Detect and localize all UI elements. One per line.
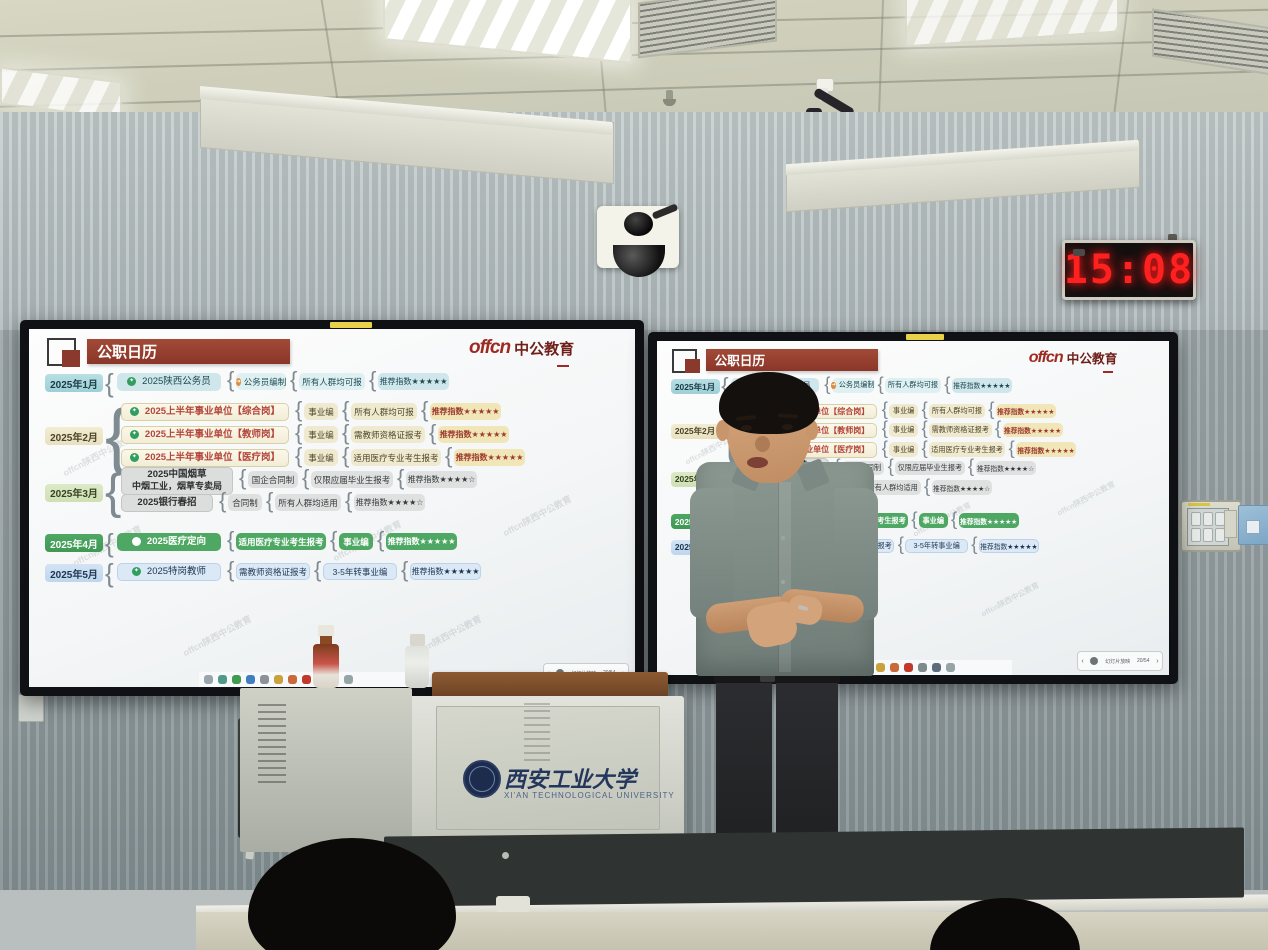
brace-connector: { xyxy=(445,446,452,466)
rating-pill[interactable]: 推荐指数★★★★★ xyxy=(410,563,481,580)
presenter-nose xyxy=(755,436,770,452)
brace-connector: { xyxy=(882,440,888,457)
brace-connector: { xyxy=(105,371,114,395)
brace-connector: { xyxy=(227,370,234,390)
brace-connector: { xyxy=(219,491,226,511)
program-tag-pill[interactable]: 事业编 xyxy=(889,404,918,418)
presenter-eye-left xyxy=(741,425,752,431)
brand-logo: offcn中公教育 xyxy=(1029,348,1118,367)
control-panel-button[interactable] xyxy=(1191,512,1201,526)
rating-pill[interactable]: 推荐指数★★★★★ xyxy=(979,539,1039,553)
month-label: 2025年5月 xyxy=(45,564,103,582)
next-slide-icon[interactable]: › xyxy=(1156,658,1158,665)
brace-connector: { xyxy=(421,400,428,420)
program-name-row: ✦2025陕西公务员 xyxy=(127,377,211,388)
bottle-cap xyxy=(410,634,425,646)
control-panel-button[interactable] xyxy=(1191,528,1201,542)
taskbar-item[interactable] xyxy=(876,663,885,672)
brace-connector: { xyxy=(898,536,904,553)
brace-connector: { xyxy=(882,401,888,418)
brace-connector: { xyxy=(377,530,384,550)
title-square-filled xyxy=(62,350,80,367)
taskbar-item[interactable] xyxy=(218,675,227,684)
program-badge-icon: ✦ xyxy=(130,407,139,416)
program-tag-pill[interactable]: 仅限应届毕业生报考 xyxy=(311,471,393,488)
program-name-text: 2025特岗教师 xyxy=(147,567,206,578)
brace-connector: { xyxy=(944,376,950,393)
program-tag-text: 公务员编制 xyxy=(839,380,875,390)
control-panel-button[interactable] xyxy=(1203,528,1213,542)
brand-logo-underline xyxy=(557,365,569,367)
program-tag-pill[interactable]: 需教师资格证报考 xyxy=(929,423,992,437)
program-tag-pill[interactable]: 合同制 xyxy=(228,494,262,511)
brace-connector: { xyxy=(295,446,302,466)
presenter-sleeve-left xyxy=(690,488,734,618)
program-name-text-2: 中烟工业，烟草专卖局 xyxy=(132,481,222,491)
brace-connector: { xyxy=(239,468,246,488)
rating-pill[interactable]: 推荐指数★★★★★ xyxy=(952,378,1012,392)
rating-pill[interactable]: 推荐指数★★★★★ xyxy=(1003,423,1063,437)
taskbar-item[interactable] xyxy=(932,663,941,672)
program-tag-pill[interactable]: 所有人群均可报 xyxy=(929,404,985,418)
control-panel-slot xyxy=(1224,510,1237,538)
brace-connector: { xyxy=(314,560,321,580)
program-badge-icon: ✦ xyxy=(130,430,139,439)
wall-outlet-box xyxy=(18,694,44,722)
display-label-sticker xyxy=(906,334,944,340)
audience-desk-panel xyxy=(384,827,1244,906)
av-control-panel[interactable] xyxy=(1180,500,1242,552)
program-tag-pill[interactable]: ➔公务员编制 xyxy=(236,373,286,390)
brace-connector: { xyxy=(397,468,404,488)
brand-logo: offcn中公教育 xyxy=(469,337,574,359)
sprinkler-head xyxy=(666,90,673,106)
panel-label-strip xyxy=(1188,503,1210,506)
brace-connector: { xyxy=(290,370,297,390)
program-name-text: 2025医疗定向 xyxy=(147,537,206,548)
rating-pill[interactable]: 推荐指数★★★★★ xyxy=(996,404,1056,418)
brace-connector: { xyxy=(1008,440,1014,457)
program-name-row: ✦2025上半年事业单位【综合岗】 xyxy=(130,407,280,418)
program-tag-pill[interactable]: ➔公务员编制 xyxy=(832,378,874,392)
lecture-room-photo: 15:08 offcn陕西中公教育offcn陕西中公教育offcn陕西中公教育o… xyxy=(0,0,1268,950)
brand-logo-en: offcn xyxy=(469,337,510,359)
water-bottle xyxy=(405,646,429,688)
podium-speaker-grille xyxy=(258,702,286,788)
brace-connector: { xyxy=(227,530,234,550)
brace-connector: { xyxy=(921,401,927,418)
brace-connector: { xyxy=(105,531,114,555)
slide-page-indicator: 20/54 xyxy=(1137,658,1150,664)
slideshow-label: 幻灯片放映 xyxy=(1105,658,1130,665)
brand-logo-underline xyxy=(1103,371,1113,373)
rating-pill[interactable]: 推荐指数★★★★★ xyxy=(378,373,449,390)
slide-watermark: offcn陕西中公教育 xyxy=(1055,479,1117,519)
rating-pill[interactable]: 推荐指数★★★★☆ xyxy=(406,471,477,488)
program-name-row: ✦2025特岗教师 xyxy=(132,567,206,578)
program-name-pill[interactable]: 2025银行春招 xyxy=(121,494,213,512)
brace-connector: { xyxy=(921,440,927,457)
program-name-row: ✦2025上半年事业单位【教师岗】 xyxy=(130,430,280,441)
program-name-text: 2025中国烟草 xyxy=(147,470,206,481)
brace-connector: { xyxy=(924,478,930,495)
university-seal xyxy=(463,760,501,798)
brand-logo-en: offcn xyxy=(1029,348,1063,367)
program-name-text: 2025上半年事业单位【医疗岗】 xyxy=(145,453,280,464)
program-tag-text: 公务员编制 xyxy=(244,376,287,388)
rating-pill[interactable]: 推荐指数★★★★★ xyxy=(438,426,509,443)
taskbar-item[interactable] xyxy=(918,663,927,672)
shirt-button xyxy=(781,580,785,584)
beverage-bottle xyxy=(313,644,339,688)
program-badge-icon: ✦ xyxy=(130,453,139,462)
program-name-pill[interactable]: 2025中国烟草中烟工业，烟草专卖局 xyxy=(121,467,233,495)
program-tag-pill[interactable]: 适用医疗专业考生报考 xyxy=(351,449,441,466)
slideshow-control-bar[interactable]: ‹幻灯片放映20/54› xyxy=(1077,651,1163,671)
program-name-pill[interactable]: ✦2025上半年事业单位【教师岗】 xyxy=(121,426,289,444)
rating-pill[interactable]: 推荐指数★★★★☆ xyxy=(354,494,425,511)
program-tag-pill[interactable]: 适用医疗专业考生报考 xyxy=(236,533,326,550)
program-name-pill[interactable]: ✦2025陕西公务员 xyxy=(117,373,221,391)
month-label: 2025年2月 xyxy=(45,427,103,445)
taskbar-item[interactable] xyxy=(246,675,255,684)
program-tag-pill[interactable]: 事业编 xyxy=(919,513,948,527)
program-tag-pill[interactable]: 事业编 xyxy=(304,449,338,466)
rating-pill[interactable]: 推荐指数★★★★★ xyxy=(959,513,1019,527)
brace-connector: { xyxy=(888,458,894,475)
program-tag-pill[interactable]: 仅限应届毕业生报考 xyxy=(895,461,964,475)
display-label-sticker xyxy=(330,322,372,328)
brace-connector: { xyxy=(878,376,884,393)
brace-connector: { xyxy=(882,420,888,437)
brace-connector: { xyxy=(295,423,302,443)
camera-lens-icon xyxy=(624,212,653,236)
brace-connector: { xyxy=(342,446,349,466)
taskbar-item[interactable] xyxy=(288,675,297,684)
brace-connector: { xyxy=(995,420,1001,437)
slide-watermark: offcn陕西中公教育 xyxy=(979,580,1041,620)
taskbar-item[interactable] xyxy=(904,663,913,672)
taskbar-item[interactable] xyxy=(302,675,311,684)
slide-watermark: offcn陕西中公教育 xyxy=(180,612,253,659)
program-tag-pill[interactable]: 事业编 xyxy=(304,426,338,443)
month-label: 2025年3月 xyxy=(45,484,103,502)
brace-connector: { xyxy=(302,468,309,488)
taskbar-item[interactable] xyxy=(232,675,241,684)
shirt-button xyxy=(781,536,785,540)
digital-wall-clock: 15:08 xyxy=(1062,240,1196,300)
brace-connector: { xyxy=(266,491,273,511)
program-tag-badge-icon: ➔ xyxy=(831,382,835,389)
taskbar-item[interactable] xyxy=(890,663,899,672)
brace-connector: { xyxy=(971,536,977,553)
brand-logo-cn: 中公教育 xyxy=(514,338,574,359)
brace-connector: { xyxy=(911,511,917,528)
program-tag-pill[interactable]: 国企合同制 xyxy=(248,471,298,488)
program-name-text: 2025银行春招 xyxy=(137,498,196,509)
control-panel-button[interactable] xyxy=(1203,512,1213,526)
university-name-en: XI'AN TECHNOLOGICAL UNIVERSITY xyxy=(504,791,675,800)
brace-connector: { xyxy=(105,561,114,585)
program-tag-pill[interactable]: 事业编 xyxy=(339,533,373,550)
program-tag-pill[interactable]: 3-5年转事业编 xyxy=(905,539,968,553)
rating-pill[interactable]: 推荐指数★★★★★ xyxy=(430,403,501,420)
program-tag-pill[interactable]: 所有人群均适用 xyxy=(275,494,341,511)
rating-pill[interactable]: 推荐指数★★★★★ xyxy=(386,533,457,550)
program-tag-pill[interactable]: 所有人群均可报 xyxy=(299,373,365,390)
brace-connector: { xyxy=(105,469,121,516)
wall-info-placard xyxy=(1238,505,1268,545)
month-label: 2025年4月 xyxy=(45,534,103,552)
brace-connector: { xyxy=(401,560,408,580)
program-badge-icon: ✦ xyxy=(132,537,141,546)
program-tag-pill[interactable]: 需教师资格证报考 xyxy=(236,563,310,580)
play-icon[interactable] xyxy=(1090,657,1098,665)
desk-bracket xyxy=(496,896,530,912)
presenter-mouth xyxy=(747,457,768,468)
rating-pill[interactable]: 推荐指数★★★★★ xyxy=(1016,442,1076,456)
brace-connector: { xyxy=(968,458,974,475)
month-label: 2025年2月 xyxy=(671,424,720,439)
program-tag-pill[interactable]: 3-5年转事业编 xyxy=(323,563,397,580)
taskbar-item[interactable] xyxy=(204,675,213,684)
slide-watermark: offcn陕西中公教育 xyxy=(500,492,573,539)
program-name-text: 2025上半年事业单位【教师岗】 xyxy=(145,430,280,441)
taskbar-item[interactable] xyxy=(946,663,955,672)
program-name-text: 2025上半年事业单位【综合岗】 xyxy=(145,407,280,418)
presenter-eye-right xyxy=(782,424,793,430)
taskbar-item[interactable] xyxy=(260,675,269,684)
program-badge-icon: ✦ xyxy=(132,567,141,576)
program-name-row: ✦2025上半年事业单位【医疗岗】 xyxy=(130,453,280,464)
slide-title-banner: 公职日历 xyxy=(87,339,290,364)
brace-connector: { xyxy=(345,491,352,511)
presenter-hair xyxy=(719,372,819,434)
program-tag-pill[interactable]: 所有人群均可报 xyxy=(351,403,417,420)
clock-indicator-led xyxy=(1073,249,1085,256)
brace-connector: { xyxy=(824,376,830,393)
control-panel-screen[interactable] xyxy=(1187,508,1229,546)
brace-connector: { xyxy=(429,423,436,443)
rating-pill[interactable]: 推荐指数★★★★☆ xyxy=(932,480,992,494)
program-tag-pill[interactable]: 事业编 xyxy=(889,423,918,437)
program-badge-icon: ✦ xyxy=(127,377,136,386)
program-name-pill[interactable]: ✦2025上半年事业单位【医疗岗】 xyxy=(121,449,289,467)
program-name-text: 2025陕西公务员 xyxy=(142,377,211,388)
brace-connector: { xyxy=(921,420,927,437)
university-name-cn: 西安工业大学 xyxy=(504,762,636,794)
brace-connector: { xyxy=(295,400,302,420)
prev-slide-icon[interactable]: ‹ xyxy=(1081,658,1083,665)
taskbar-item[interactable] xyxy=(344,675,353,684)
program-name-row: ✦2025医疗定向 xyxy=(132,537,206,548)
program-tag-pill[interactable]: 需教师资格证报考 xyxy=(351,426,425,443)
podium-desktop xyxy=(432,672,668,698)
program-tag-badge-icon: ➔ xyxy=(236,378,241,386)
program-tag-pill[interactable]: 所有人群均可报 xyxy=(885,378,941,392)
brand-logo-cn: 中公教育 xyxy=(1067,348,1118,367)
month-label: 2025年1月 xyxy=(45,374,103,392)
slide-title-banner: 公职日历 xyxy=(706,349,878,370)
program-name-pill[interactable]: ✦2025特岗教师 xyxy=(117,563,221,581)
brace-connector: { xyxy=(988,401,994,418)
rating-pill[interactable]: 推荐指数★★★★★ xyxy=(454,449,525,466)
program-name-pill[interactable]: ✦2025上半年事业单位【综合岗】 xyxy=(121,403,289,421)
brace-connector: { xyxy=(342,400,349,420)
taskbar-item[interactable] xyxy=(274,675,283,684)
title-square-filled xyxy=(685,359,700,373)
brace-connector: { xyxy=(342,423,349,443)
rating-pill[interactable]: 推荐指数★★★★☆ xyxy=(976,461,1036,475)
program-tag-pill[interactable]: 事业编 xyxy=(304,403,338,420)
left-display-screen[interactable]: offcn陕西中公教育offcn陕西中公教育offcn陕西中公教育offcn陕西… xyxy=(20,320,644,696)
seal-inner-ring xyxy=(469,766,495,792)
brace-connector: { xyxy=(951,511,957,528)
program-name-pill[interactable]: ✦2025医疗定向 xyxy=(117,533,221,551)
desk-fastener xyxy=(502,852,509,859)
placard-icon xyxy=(1246,520,1260,534)
podium-speaker-grille xyxy=(524,702,550,766)
brace-connector: { xyxy=(369,370,376,390)
brace-connector: { xyxy=(330,530,337,550)
brace-connector: { xyxy=(227,560,234,580)
month-label: 2025年1月 xyxy=(671,379,720,394)
